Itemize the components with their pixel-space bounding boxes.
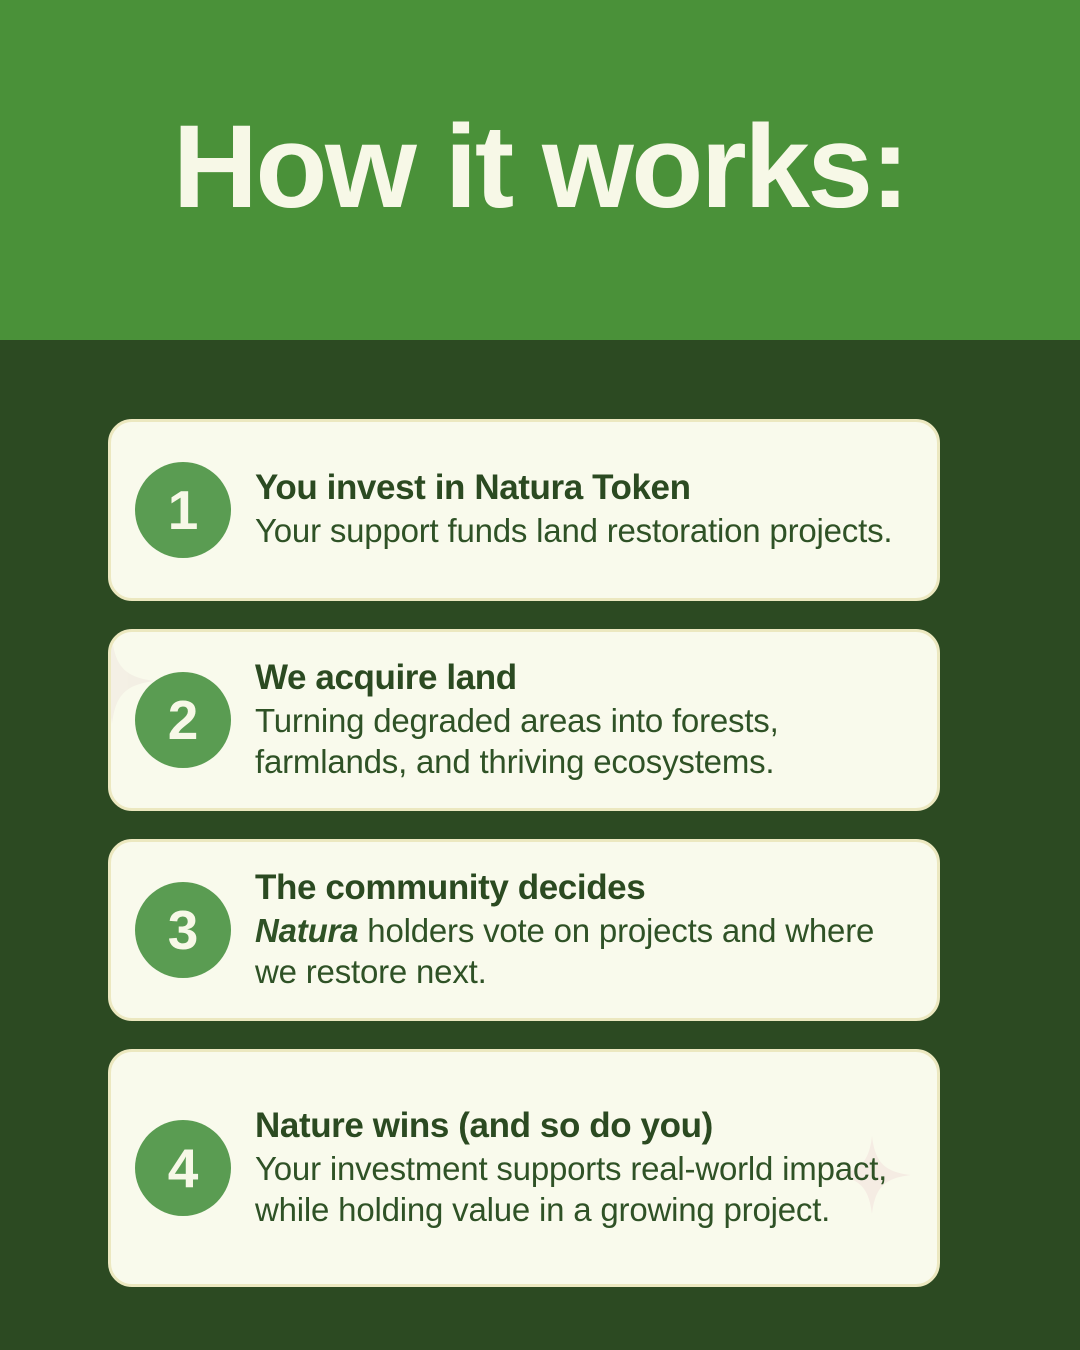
page-header: How it works: [0,0,1080,340]
step-text-1: Your support funds land restoration proj… [255,511,911,552]
step-text-4: Your investment supports real-world impa… [255,1149,911,1231]
step-heading-1: You invest in Natura Token [255,468,911,507]
step-card-3[interactable]: 3 The community decides Natura holders v… [108,839,940,1021]
step-text-emphasis-3: Natura [255,912,358,949]
step-card-2[interactable]: 2 We acquire land Turning degraded areas… [108,629,940,811]
step-number-badge-1: 1 [135,462,231,558]
step-card-1[interactable]: 1 You invest in Natura Token Your suppor… [108,419,940,601]
step-text-2: Turning degraded areas into forests, far… [255,701,911,783]
step-content-3: The community decides Natura holders vot… [255,868,911,993]
step-content-4: Nature wins (and so do you) Your investm… [255,1106,911,1231]
page-title: How it works: [173,108,908,232]
step-number-badge-3: 3 [135,882,231,978]
step-heading-3: The community decides [255,868,911,907]
step-heading-4: Nature wins (and so do you) [255,1106,911,1145]
step-text-3: Natura holders vote on projects and wher… [255,911,911,993]
step-number-badge-4: 4 [135,1120,231,1216]
steps-list: 1 You invest in Natura Token Your suppor… [108,419,940,1287]
step-content-1: You invest in Natura Token Your support … [255,468,911,552]
step-content-2: We acquire land Turning degraded areas i… [255,658,911,783]
step-number-badge-2: 2 [135,672,231,768]
step-heading-2: We acquire land [255,658,911,697]
step-card-4[interactable]: 4 Nature wins (and so do you) Your inves… [108,1049,940,1287]
